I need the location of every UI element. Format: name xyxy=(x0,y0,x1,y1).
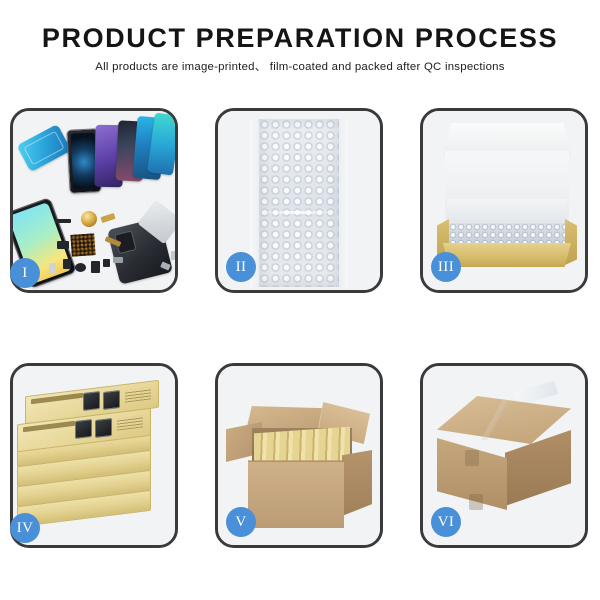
spare-part xyxy=(113,257,123,263)
spare-part xyxy=(91,261,100,273)
box-front-panel xyxy=(443,243,571,267)
bubble-wrap-layer xyxy=(449,223,565,245)
spare-part xyxy=(63,259,71,269)
process-row-top: I II xyxy=(10,108,590,293)
pouch-seam xyxy=(260,211,336,214)
step-badge-2: II xyxy=(226,252,256,282)
spare-part xyxy=(103,259,110,267)
phone-blue-tilted xyxy=(17,124,72,172)
process-step-6: VI xyxy=(420,363,588,548)
chip-array xyxy=(70,233,95,257)
page-subtitle: All products are image-printed、 film-coa… xyxy=(0,60,600,75)
carton-flap-tab xyxy=(469,494,483,510)
product-preparation-infographic: PRODUCT PREPARATION PROCESS All products… xyxy=(0,0,600,600)
process-step-3: III xyxy=(420,108,588,293)
process-step-1: I xyxy=(10,108,178,293)
carton-flap-tab xyxy=(465,450,479,466)
step-1-image xyxy=(13,111,175,290)
process-step-grid: I II xyxy=(10,108,590,548)
spare-part xyxy=(171,251,175,260)
page-title: PRODUCT PREPARATION PROCESS xyxy=(0,22,600,54)
bubble-wrap-pouch xyxy=(258,119,340,287)
process-step-2: II xyxy=(215,108,383,293)
process-row-bottom: IV V xyxy=(10,363,590,548)
header: PRODUCT PREPARATION PROCESS All products… xyxy=(0,22,600,75)
spare-part xyxy=(55,219,71,223)
gold-component xyxy=(81,211,97,227)
step-4-image xyxy=(13,366,175,545)
process-step-5: V xyxy=(215,363,383,548)
carton-front-panel xyxy=(248,462,344,528)
step-badge-6: VI xyxy=(431,507,461,537)
step-badge-3: III xyxy=(431,252,461,282)
step-badge-1: I xyxy=(10,258,40,288)
spare-part xyxy=(75,263,86,272)
step-badge-5: V xyxy=(226,507,256,537)
carton-side-panel xyxy=(342,450,372,516)
packing-tape xyxy=(514,380,558,405)
spare-part xyxy=(49,263,56,274)
spare-part xyxy=(100,213,115,223)
step-badge-4: IV xyxy=(10,513,40,543)
spare-part xyxy=(57,241,69,249)
process-step-4: IV xyxy=(10,363,178,548)
